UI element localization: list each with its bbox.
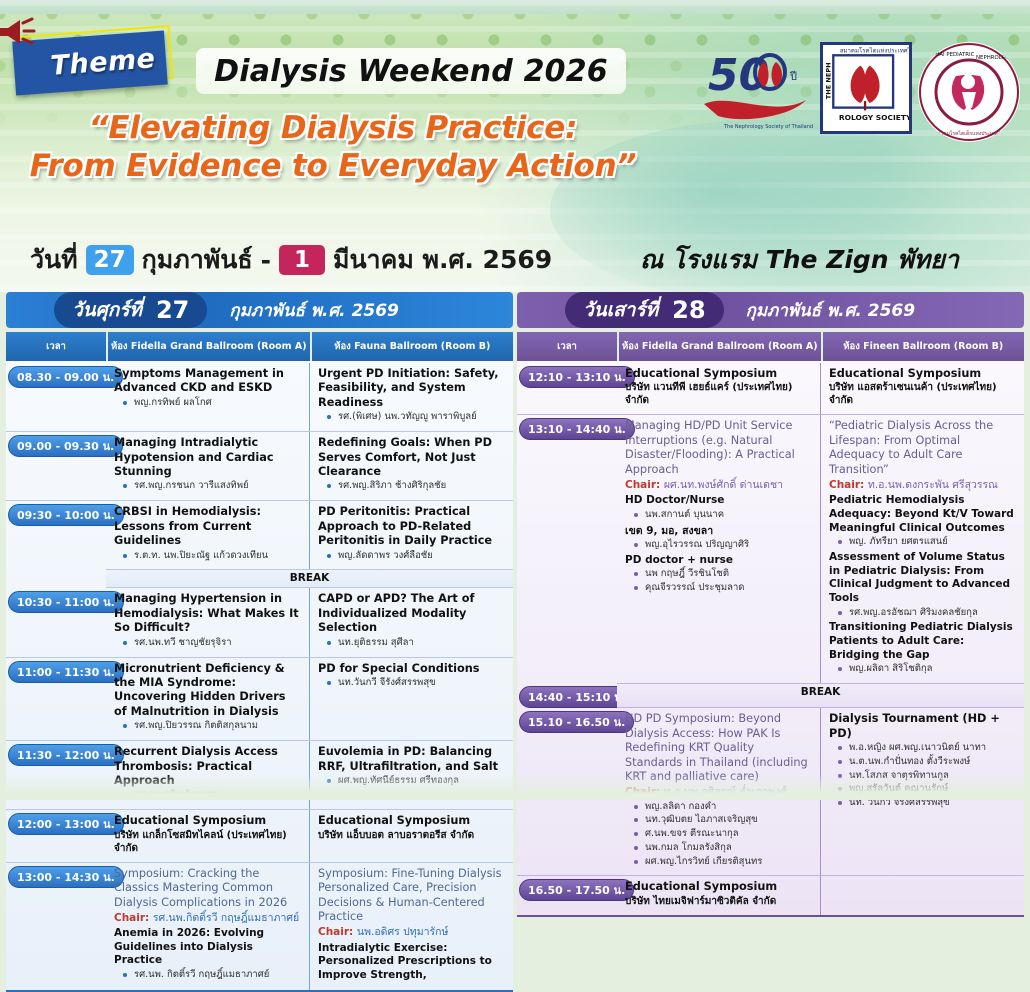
friday-session-room-b: CAPD or APD? The Art of Individualized M… [310, 588, 513, 656]
saturday-col-room-b: ห้อง Fineen Ballroom (Room B) [823, 332, 1025, 361]
svg-text:ROLOGY SOCIETY OF: ROLOGY SOCIETY OF [839, 113, 909, 122]
saturday-month-year: กุมภาพันธ์ พ.ศ. 2569 [746, 297, 916, 324]
saturday-session-room-b: “Pediatric Dialysis Across the Lifespan:… [821, 415, 1024, 683]
session-title: Urgent PD Initiation: Safety, Feasibilit… [318, 367, 505, 410]
session-title: Educational Symposium [625, 880, 812, 894]
time-cell: 11:00 - 11:30 น. [6, 658, 106, 741]
session-title: Micronutrient Deficiency & the MIA Syndr… [114, 662, 301, 720]
svg-text:สมาคมโรคไตแห่งประเทศไทย: สมาคมโรคไตแห่งประเทศไทย [840, 46, 909, 54]
session-title: Redefining Goals: When PD Serves Comfort… [318, 436, 505, 479]
time-cell [6, 569, 106, 588]
session-title: Symptoms Management in Advanced CKD and … [114, 367, 301, 396]
session-title: Managing Hypertension in Hemodialysis: W… [114, 592, 301, 635]
date-end-month: มีนาคม พ.ศ. 2569 [333, 240, 552, 280]
session-title: Educational Symposium [318, 814, 505, 828]
friday-session-room-b: PD for Special Conditionsนท.วันกวี จีรัง… [310, 658, 513, 741]
saturday-schedule-row: 13:10 - 14:40 น.Managing HD/PD Unit Serv… [517, 414, 1024, 683]
friday-schedule-row: 10:30 - 11:00 น.Managing Hypertension in… [6, 588, 513, 656]
speaker-name: นพ กฤษฎี์ วีรชินโชติ [625, 567, 812, 581]
speaker-name: รศ.พญ.ปิยวรรณ กิตติสกุลนาม [114, 719, 301, 733]
saturday-session-room-a: Educational Symposiumบริษัท ไทยเมจิฟาร์ม… [617, 876, 821, 914]
saturday-session-room-a: Managing HD/PD Unit Service Interruption… [617, 415, 821, 683]
session-sponsor: บริษัท ไทยเมจิฟาร์มาซิวติคัล จำกัด [625, 895, 812, 908]
friday-day-label: วันศุกร์ที่ [72, 295, 142, 325]
break-label: BREAK [106, 569, 513, 588]
saturday-schedule-row: 12:10 - 13:10 น.Educational Symposiumบริ… [517, 363, 1024, 414]
speaker-name: รศ.พญ.กรชนก วารีแสงทิพย์ [114, 479, 301, 493]
session-sponsor: บริษัท แอสตร้าเซนเนค้า (ประเทศไทย) จำกัด [829, 381, 1016, 407]
session-group-label: Transitioning Pediatric Dialysis Patient… [829, 621, 1016, 662]
friday-schedule-row: 09.00 - 09.30 น.Managing Intradialytic H… [6, 431, 513, 500]
date-start-month: กุมภาพันธ์ [142, 240, 253, 280]
time-cell: 15.10 - 16.50 น. [517, 708, 617, 875]
session-group-label: Assessment of Volume Status in Pediatric… [829, 551, 1016, 606]
date-dash: - [261, 246, 271, 275]
friday-board: วันศุกร์ที่ 27 กุมภาพันธ์ พ.ศ. 2569 เวลา… [6, 292, 513, 800]
svg-text:ปี: ปี [789, 70, 797, 83]
speaker-name: พญ.ลลิดา กองคำ [625, 800, 812, 814]
session-title: Recurrent Dialysis Access Thrombosis: Pr… [114, 745, 301, 788]
session-group-label: PD doctor + nurse [625, 554, 812, 568]
saturday-session-room-b: Dialysis Tournament (HD + PD)พ.อ.หญิง ผศ… [821, 708, 1024, 875]
speaker-name: พญ. ภัทรียา ยศตรแสนย์ [829, 535, 1016, 549]
session-sponsor: บริษัท แกล็กโซสมิทไคลน์ (ประเทศไทย) จำกั… [114, 829, 301, 855]
friday-month-year: กุมภาพันธ์ พ.ศ. 2569 [229, 297, 399, 324]
friday-session-room-b: Redefining Goals: When PD Serves Comfort… [310, 432, 513, 500]
session-sponsor: บริษัท แอ็บบอต ลาบอราตอรีส จำกัด [318, 829, 505, 842]
event-title: Dialysis Weekend 2026 [214, 54, 608, 89]
session-subtitle: Intradialytic Exercise: Personalized Pre… [318, 942, 505, 983]
svg-text:The Nephrology Society of Thai: The Nephrology Society of Thailand [723, 124, 813, 130]
speaker-name: คุณจีรวรรณ์ ประชุมลาด [625, 581, 812, 595]
session-title: Educational Symposium [625, 367, 812, 381]
speaker-name: ผศ.พญ.ไกรวิทย์ เกียรติสุนทร [625, 855, 812, 869]
session-title: PD Peritonitis: Practical Approach to PD… [318, 505, 505, 548]
speaker-name: นพ.กมล โกมลรังสิกุล [625, 841, 812, 855]
saturday-col-time: เวลา [517, 332, 617, 361]
session-title: PD for Special Conditions [318, 662, 505, 676]
friday-col-room-b: ห้อง Fauna Ballroom (Room B) [312, 332, 514, 361]
theme-line-1: “Elevating Dialysis Practice: [28, 110, 638, 148]
schedule-boards: วันศุกร์ที่ 27 กุมภาพันธ์ พ.ศ. 2569 เวลา… [0, 292, 1030, 800]
poster-header: Theme Dialysis Weekend 2026 “Elevating D… [0, 0, 1030, 292]
speaker-name: พญ.ลัดดาพร วงศ์ลือชัย [318, 549, 505, 563]
speaker-name: พญ.ผลิดา สิริโชติกุล [829, 662, 1016, 676]
time-cell: 10:30 - 11:00 น. [6, 588, 106, 656]
time-cell: 09:30 - 10:00 น. [6, 501, 106, 569]
speaker-name: นท. วันกวี จีรังศ์สรรพสุข [829, 796, 1016, 810]
friday-session-room-b: Urgent PD Initiation: Safety, Feasibilit… [310, 363, 513, 431]
speaker-name: รศ.พญ.อรอัชฌา ศิริมงคลชัยกุล [829, 606, 1016, 620]
session-title: Educational Symposium [829, 367, 1016, 381]
session-chair: Chair: รศ.นพ.กิตติ์รวี กฤษฎิ์แมธาภาศย์ [114, 911, 301, 925]
time-cell: 16.50 - 17.50 น. [517, 876, 617, 914]
saturday-day-label: วันเสาร์ที่ [583, 295, 658, 325]
friday-col-room-a: ห้อง Fidella Grand Ballroom (Room A) [108, 332, 310, 361]
saturday-board: วันเสาร์ที่ 28 กุมภาพันธ์ พ.ศ. 2569 เวลา… [517, 292, 1024, 800]
speaker-name: ร.ต.ท. นพ.ปิยะณัฐ แก้วดวงเทียน [114, 549, 301, 563]
saturday-day-number: 28 [672, 296, 705, 324]
speaker-name: รศ.นพ. กิตติ์รวี กฤษฎิ์แมธาภาศย์ [114, 968, 301, 982]
session-title: Managing HD/PD Unit Service Interruption… [625, 419, 812, 477]
time-cell: 13:10 - 14:40 น. [517, 415, 617, 683]
speaker-name: ผศ.พญ.ทัศนีย์ธรรม ศรีทองกุล [318, 774, 505, 788]
speaker-name: ศ.นพ.ขจร ตีรณะนากุล [625, 827, 812, 841]
logo-thai-pediatric-nephrology-association-icon: THAI PEDIATRIC NEPHROLOGY สมาคมโรคไตเด็ก… [918, 42, 1020, 142]
speaker-name: นท.ยุติธรรม สุศีลา [318, 636, 505, 650]
session-title: Managing Intradialytic Hypotension and C… [114, 436, 301, 479]
speaker-name: พญ.กรทิพย์ ผลโกศ [114, 396, 301, 410]
friday-session-room-a: Symptoms Management in Advanced CKD and … [106, 363, 310, 431]
friday-schedule-row: 11:30 - 12:00 น.Recurrent Dialysis Acces… [6, 740, 513, 809]
session-sponsor: บริษัท แวนทีพี เฮยธ์แคร์ (ประเทศไทย) จำก… [625, 381, 812, 407]
break-label: BREAK [617, 683, 1024, 708]
saturday-session-room-a: HD PD Symposium: Beyond Dialysis Access:… [617, 708, 821, 875]
friday-schedule-row: 09:30 - 10:00 น.CRBSI in Hemodialysis: L… [6, 500, 513, 569]
session-title: Symposium: Fine-Tuning Dialysis Personal… [318, 867, 505, 925]
saturday-day-bar: วันเสาร์ที่ 28 กุมภาพันธ์ พ.ศ. 2569 [517, 292, 1024, 328]
session-chair: Chair: ผศ.นท.พงษ์ศักดิ์ ด่านเดชา [625, 478, 812, 492]
speaker-name: รศ.นพ.ทวี ชาญชัยรุจิรา [114, 636, 301, 650]
speaker-name: รศ.พญ.สิริภา ช้างศิริกุลชัย [318, 479, 505, 493]
session-chair: Chair: ท.อ.นพ.ดงกระพัน ศรีสุวรรณ [829, 478, 1016, 492]
friday-session-room-a: Recurrent Dialysis Access Thrombosis: Pr… [106, 741, 310, 809]
time-cell: 13:00 - 14:30 น. [6, 863, 106, 990]
session-title: Symposium: Cracking the Classics Masteri… [114, 867, 301, 910]
friday-day-number: 27 [156, 296, 189, 324]
logo-group: 50 ปี The Nephrology Society of Thailand… [696, 42, 1020, 142]
logo-50-years-nephrology-society-icon: 50 ปี The Nephrology Society of Thailand [696, 42, 814, 134]
saturday-schedule-row: 16.50 - 17.50 น.Educational Symposiumบริ… [517, 875, 1024, 914]
svg-text:THAI PEDIATRIC: THAI PEDIATRIC [931, 52, 975, 58]
friday-break-row: BREAK [6, 569, 513, 588]
friday-schedule-row: 11:00 - 11:30 น.Micronutrient Deficiency… [6, 657, 513, 741]
friday-session-room-a: Educational Symposiumบริษัท แกล็กโซสมิทไ… [106, 810, 310, 861]
speaker-name: นพ.สกานต์ บุนนาค [625, 508, 812, 522]
speaker-name: รศ.(พิเศษ) นพ.วทัญญู พาราพิบูลย์ [318, 410, 505, 424]
session-group-label: เขต 9, มอ, สงขลา [625, 524, 812, 538]
friday-session-room-b: Educational Symposiumบริษัท แอ็บบอต ลาบอ… [310, 810, 513, 861]
friday-col-time: เวลา [6, 332, 106, 361]
date-end-badge: 1 [279, 245, 325, 275]
friday-session-room-b: Euvolemia in PD: Balancing RRF, Ultrafil… [310, 741, 513, 809]
friday-schedule-row: 13:00 - 14:30 น.Symposium: Cracking the … [6, 862, 513, 990]
session-chair: Chair: นพ.อดิศร ปทุมารักษ์ [318, 925, 505, 939]
friday-session-room-b: Symposium: Fine-Tuning Dialysis Personal… [310, 863, 513, 990]
date-start-badge: 27 [86, 245, 134, 275]
session-title: HD PD Symposium: Beyond Dialysis Access:… [625, 712, 812, 784]
theme-text: “Elevating Dialysis Practice: From Evide… [28, 110, 638, 186]
session-group-label: HD Doctor/Nurse [625, 494, 812, 508]
session-subtitle: Anemia in 2026: Evolving Guidelines into… [114, 927, 301, 968]
session-chair: Chair: ท.อ.นพ.อศิสรณ์ ล่ำเภาพงศ์ [625, 785, 812, 799]
time-cell: 14:40 - 15:10 น. [517, 683, 617, 708]
session-title: “Pediatric Dialysis Across the Lifespan:… [829, 419, 1016, 477]
friday-day-pill: วันศุกร์ที่ 27 [54, 292, 207, 328]
friday-session-room-a: Managing Hypertension in Hemodialysis: W… [106, 588, 310, 656]
saturday-session-room-b: Educational Symposiumบริษัท แอสตร้าเซนเน… [821, 363, 1024, 414]
date-prefix-label: วันที่ [30, 240, 78, 280]
friday-schedule-row: 08.30 - 09.00 น.Symptoms Management in A… [6, 363, 513, 431]
friday-grid: 08.30 - 09.00 น.Symptoms Management in A… [6, 361, 513, 992]
saturday-session-room-a: Educational Symposiumบริษัท แวนทีพี เฮยธ… [617, 363, 821, 414]
friday-column-headers: เวลา ห้อง Fidella Grand Ballroom (Room A… [6, 332, 513, 361]
time-cell: 09.00 - 09.30 น. [6, 432, 106, 500]
friday-schedule-row: 12:00 - 13:00 น.Educational Symposiumบริ… [6, 809, 513, 861]
saturday-break-row: 14:40 - 15:10 น.BREAK [517, 683, 1024, 708]
speaker-name: ผศ.นพ.สุกิจ รักษาสุข [114, 788, 301, 802]
saturday-col-room-a: ห้อง Fidella Grand Ballroom (Room A) [619, 332, 821, 361]
saturday-session-room-b [821, 876, 1024, 914]
friday-session-room-a: Micronutrient Deficiency & the MIA Syndr… [106, 658, 310, 741]
speaker-name: น.ต.นพ.กำปั่นทอง ตั้งวีระพงษ์ [829, 755, 1016, 769]
speaker-name: พ.อ.หญิง ผศ.พญ.เนาวนิตย์ นาทา [829, 741, 1016, 755]
friday-session-room-a: Managing Intradialytic Hypotension and C… [106, 432, 310, 500]
event-title-pill: Dialysis Weekend 2026 [196, 48, 626, 94]
event-date-line: วันที่ 27 กุมภาพันธ์ - 1 มีนาคม พ.ศ. 256… [30, 240, 552, 280]
svg-text:NEPHROLOGY: NEPHROLOGY [976, 55, 1014, 61]
session-title: Educational Symposium [114, 814, 301, 828]
friday-day-bar: วันศุกร์ที่ 27 กุมภาพันธ์ พ.ศ. 2569 [6, 292, 513, 328]
time-cell: 12:00 - 13:00 น. [6, 810, 106, 861]
saturday-schedule-row: 15.10 - 16.50 น.HD PD Symposium: Beyond … [517, 708, 1024, 875]
friday-session-room-a: Symposium: Cracking the Classics Masteri… [106, 863, 310, 990]
theme-line-2: From Evidence to Everyday Action” [28, 148, 638, 186]
time-cell: 08.30 - 09.00 น. [6, 363, 106, 431]
saturday-day-pill: วันเสาร์ที่ 28 [565, 292, 724, 328]
session-group-label: Pediatric Hemodialysis Adequacy: Beyond … [829, 494, 1016, 535]
session-title: Euvolemia in PD: Balancing RRF, Ultrafil… [318, 745, 505, 774]
speaker-name: นท.โสภส จาตุรพิทานกูล [829, 769, 1016, 783]
session-title: CAPD or APD? The Art of Individualized M… [318, 592, 505, 635]
megaphone-icon [0, 16, 36, 48]
time-cell: 12:10 - 13:10 น. [517, 363, 617, 414]
speaker-name: นท.วันกวี จีรังศ์สรรพสุข [318, 676, 505, 690]
speaker-name: นท.วุฒิบตย ไอภาสเจริญสุข [625, 813, 812, 827]
speaker-name: พญ.สรัลวันต์ คณานุรักษ์ [829, 782, 1016, 796]
saturday-grid: 12:10 - 13:10 น.Educational Symposiumบริ… [517, 361, 1024, 917]
friday-session-room-b: PD Peritonitis: Practical Approach to PD… [310, 501, 513, 569]
speaker-name: พญ.อุไรวรรณ ปริญญาศิริ [625, 538, 812, 552]
saturday-column-headers: เวลา ห้อง Fidella Grand Ballroom (Room A… [517, 332, 1024, 361]
session-title: CRBSI in Hemodialysis: Lessons from Curr… [114, 505, 301, 548]
session-title: Dialysis Tournament (HD + PD) [829, 712, 1016, 741]
friday-session-room-a: CRBSI in Hemodialysis: Lessons from Curr… [106, 501, 310, 569]
logo-nephrology-society-of-thailand-icon: สมาคมโรคไตแห่งประเทศไทย ROLOGY SOCIETY O… [820, 42, 912, 134]
svg-text:THE NEPH: THE NEPH [824, 62, 832, 99]
event-venue: ณ โรงแรม The Zign พัทยา [640, 240, 959, 280]
svg-text:สมาคมโรคไตเด็กแห่งประเทศไทย: สมาคมโรคไตเด็กแห่งประเทศไทย [934, 129, 1007, 137]
time-cell: 11:30 - 12:00 น. [6, 741, 106, 809]
